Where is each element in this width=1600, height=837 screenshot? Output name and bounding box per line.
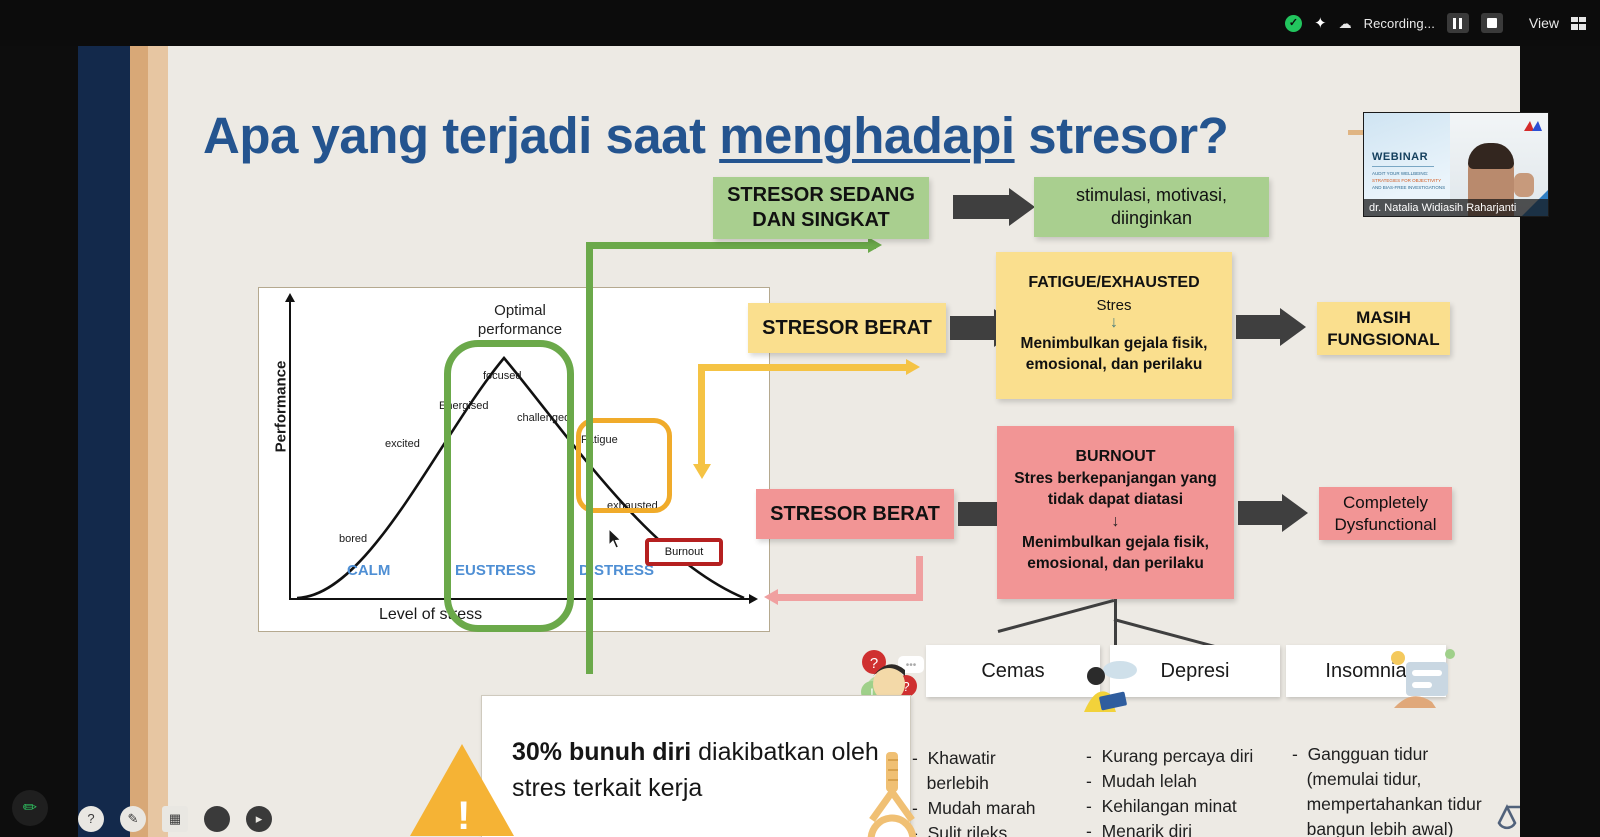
webcam-banner-rule [1372, 166, 1434, 167]
next-slide-icon[interactable]: ▸ [246, 806, 272, 832]
suicide-statistic-callout: ! 30% bunuh diri diakibatkan oleh stres … [481, 695, 911, 837]
list-item: - Mudah marah [912, 796, 1072, 821]
pink-connector-arrow [764, 589, 778, 605]
yellow-connector-arrow-right [906, 359, 920, 375]
yellow-connector-arrow-down [693, 464, 711, 479]
list-item: - Mudah lelah [1086, 769, 1286, 794]
symptom-branch-center [1114, 618, 1117, 646]
insomnia-person-icon [1384, 642, 1464, 714]
slide-toolbar: ? ✎ ▦ ▸ [78, 800, 278, 837]
mouse-cursor [608, 528, 622, 549]
symptom-branch-left [998, 599, 1115, 633]
flow-green-arrow [953, 188, 1035, 226]
list-item: - Kurang percaya diri [1086, 744, 1286, 769]
annotate-button[interactable]: ✏ [12, 790, 48, 826]
page-title: Apa yang terjadi saat menghadapi stresor… [203, 106, 1323, 165]
flow-yellow-outcome-box: MASIH FUNGSIONAL [1317, 302, 1450, 355]
warning-exclamation: ! [457, 794, 470, 837]
shared-slide: Apa yang terjadi saat menghadapi stresor… [78, 46, 1520, 837]
list-item: - Kehilangan minat [1086, 794, 1286, 819]
list-item: - Menarik diri [1086, 819, 1286, 837]
view-button[interactable]: View [1529, 15, 1559, 31]
symptom-card-label: Cemas [981, 660, 1044, 683]
callout-text: 30% bunuh diri diakibatkan oleh stres te… [512, 734, 882, 807]
symptom-card-label: Depresi [1161, 660, 1230, 683]
depressed-person-icon [1074, 654, 1144, 716]
symptom-branch-stem [1114, 599, 1117, 619]
pause-recording-button[interactable] [1447, 13, 1469, 33]
webcam-banner-title: WEBINAR [1372, 151, 1428, 163]
flow-green-outcome-box: stimulasi, motivasi, diinginkan [1034, 177, 1269, 237]
shield-check-icon[interactable]: ✓ [1285, 15, 1302, 32]
flow-yellow-result-line2: Menimbulkan gejala fisik, [1021, 335, 1208, 353]
presenter-webcam-thumbnail[interactable]: WEBINAR AUDIT YOUR WELLBEING: STRATEGIES… [1363, 112, 1549, 217]
title-part-1: Apa yang terjadi saat [203, 107, 719, 164]
organization-logo-icon [1522, 119, 1544, 133]
meeting-topbar: ✓ ✦ ☁ Recording... View [0, 0, 1600, 46]
slide-tan-stripe-1 [130, 46, 148, 837]
chart-y-axis-label: Performance [273, 347, 290, 467]
webcam-banner-subtitle: AUDIT YOUR WELLBEING: STRATEGIES FOR OBJ… [1372, 171, 1446, 191]
slide-navy-stripe [78, 46, 130, 837]
flow-pink-stressor-box: STRESOR BERAT [756, 489, 954, 539]
symptom-list-cemas: - Khawatir berlebih - Mudah marah - Suli… [912, 746, 1072, 837]
flow-green-stressor-box: STRESOR SEDANG DAN SINGKAT [713, 177, 929, 239]
stop-recording-button[interactable] [1481, 13, 1503, 33]
flow-pink-stressor-label: STRESOR BERAT [770, 503, 940, 526]
list-item: (memulai tidur, [1292, 767, 1507, 792]
presenter-name-label: dr. Natalia Widiasih Raharjanti [1364, 199, 1549, 216]
yellow-connector-horizontal [698, 364, 913, 371]
flow-pink-result-title: BURNOUT [1076, 448, 1156, 466]
flow-yellow-stressor-label: STRESOR BERAT [762, 317, 932, 340]
flow-yellow-result-box: FATIGUE/EXHAUSTED Stres ↓ Menimbulkan ge… [996, 252, 1232, 399]
flow-pink-outcome-label: Completely Dysfunctional [1334, 492, 1436, 535]
warning-triangle-icon: ! [410, 744, 514, 836]
flow-pink-arrow-2 [1238, 494, 1308, 532]
flow-yellow-result-line1: Stres [1096, 297, 1131, 314]
psikfor-logo: PSIKFOR | ID [1473, 793, 1520, 837]
flow-yellow-stressor-box: STRESOR BERAT [748, 303, 946, 353]
flow-pink-result-line1: Stres berkepanjangan yang [1014, 470, 1216, 488]
svg-text:•••: ••• [906, 660, 917, 671]
sparkle-icon[interactable]: ✦ [1314, 16, 1327, 31]
slide-thumbnail-icon[interactable]: ▦ [162, 806, 188, 832]
noose-icon [858, 748, 924, 837]
scales-psi-logo-icon [1497, 793, 1520, 837]
list-item: - Khawatir [912, 746, 1072, 771]
list-item: berlebih [912, 771, 1072, 796]
slide-tan-stripe-2 [148, 46, 168, 837]
callout-bold-text: 30% bunuh diri [512, 738, 691, 766]
flow-pink-result-arrow: ↓ [1112, 513, 1120, 531]
flow-pink-result-line1b: tidak dapat diatasi [1048, 488, 1183, 513]
flow-green-stressor-label: STRESOR SEDANG DAN SINGKAT [727, 183, 915, 233]
title-part-2: stresor? [1015, 107, 1229, 164]
symptom-list-depresi: - Kurang percaya diri - Mudah lelah - Ke… [1086, 744, 1286, 837]
list-item: - Gangguan tidur [1292, 742, 1507, 767]
pink-connector-horizontal [778, 594, 923, 601]
pencil-icon: ✏ [23, 798, 37, 818]
chart-point-label: excited [385, 438, 420, 450]
green-connector-vertical [586, 242, 593, 674]
topbar-controls: ✓ ✦ ☁ Recording... View [1285, 0, 1590, 46]
svg-text:?: ? [870, 655, 878, 672]
cloud-icon: ☁ [1339, 17, 1352, 30]
flow-pink-result-line3: emosional, dan perilaku [1027, 552, 1204, 577]
flow-yellow-result-arrow: ↓ [1110, 314, 1118, 332]
help-icon[interactable]: ? [78, 806, 104, 832]
flow-green-outcome-label: stimulasi, motivasi, diinginkan [1076, 184, 1227, 231]
chart-zone-calm: CALM [347, 562, 390, 579]
recording-status-label: Recording... [1364, 16, 1435, 31]
pen-icon[interactable]: ✎ [120, 806, 146, 832]
flow-pink-outcome-box: Completely Dysfunctional [1319, 487, 1452, 540]
slide-body: Apa yang terjadi saat menghadapi stresor… [168, 46, 1520, 837]
flow-yellow-result-title: FATIGUE/EXHAUSTED [1028, 274, 1199, 292]
yellow-connector-vertical [698, 364, 705, 467]
flow-yellow-result-line3: emosional, dan perilaku [1026, 353, 1203, 378]
burnout-highlight-box: Burnout [645, 538, 723, 566]
flow-pink-result-line2: Menimbulkan gejala fisik, [1022, 534, 1209, 552]
flow-yellow-outcome-label: MASIH FUNGSIONAL [1327, 307, 1439, 350]
eustress-highlight-box [444, 340, 574, 632]
green-connector-horizontal [586, 242, 876, 249]
previous-slide-icon[interactable] [204, 806, 230, 832]
grid-layout-icon[interactable] [1571, 17, 1586, 30]
chart-point-label: bored [339, 533, 367, 545]
chart-point-label: Burnout [665, 546, 704, 558]
list-item: - Sulit rileks [912, 821, 1072, 837]
pink-connector-vertical [916, 556, 923, 601]
flow-pink-result-box: BURNOUT Stres berkepanjangan yang tidak … [997, 426, 1234, 599]
screen-share-window: ✓ ✦ ☁ Recording... View [0, 0, 1600, 837]
title-underlined-word: menghadapi [719, 107, 1014, 164]
flow-yellow-arrow-2 [1236, 308, 1306, 346]
green-connector-arrow [868, 237, 882, 253]
stress-performance-chart: Performance Level of stress Optimal perf… [258, 287, 770, 632]
